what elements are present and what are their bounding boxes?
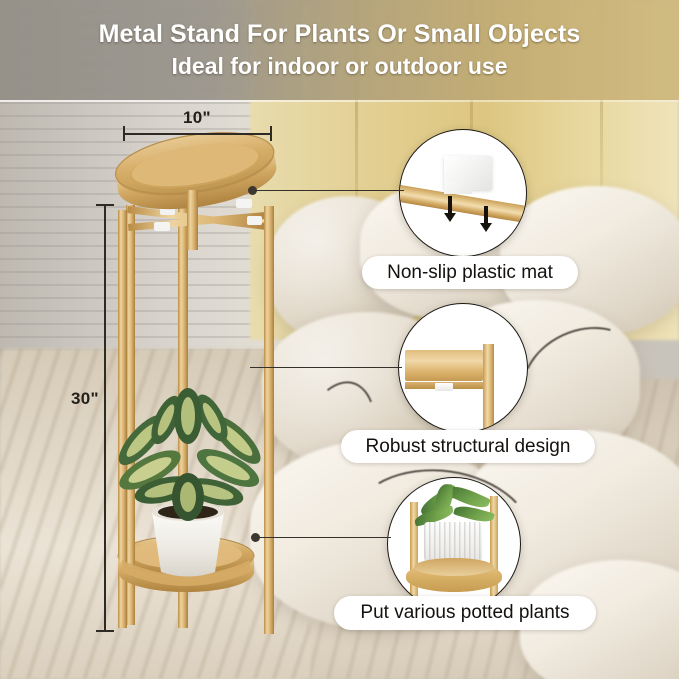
callout-3-anchor-dot [251,533,260,542]
down-arrow-icon [484,206,488,224]
dim-width-tick-left [123,126,125,141]
header-title-line2: Ideal for indoor or outdoor use [171,53,507,80]
callout-2-label: Robust structural design [366,436,571,458]
dim-width-line [123,133,272,135]
down-arrow-icon [448,196,452,214]
header-divider [0,100,679,102]
dim-height-line [104,205,106,631]
callout-1-leader-line [252,190,404,191]
callout-1-label-pill: Non-slip plastic mat [362,256,578,289]
callout-3-label: Put various potted plants [360,602,569,624]
callout-2-leader-line [250,367,402,368]
plastic-mat-icon [444,156,492,190]
product-infographic: 10" 30" Non-slip plastic mat Robust stru… [0,0,679,679]
callout-1-detail-circle [399,129,527,257]
callout-1-label: Non-slip plastic mat [387,262,553,284]
callout-2-detail-circle [398,303,528,433]
callout-3-detail-circle [387,477,521,611]
callout-2-label-pill: Robust structural design [341,430,595,463]
callout-1-anchor-dot [248,186,257,195]
tray-edge-detail [405,350,483,381]
dim-width-label: 10" [183,108,211,128]
header-banner: Metal Stand For Plants Or Small Objects … [0,0,679,100]
dim-width-tick-right [270,126,272,141]
callout-3-leader-line [255,537,391,538]
dim-height-label: 30" [71,389,99,409]
dim-height-tick-top [96,204,114,206]
tray-inner-detail [414,558,494,576]
header-title-line1: Metal Stand For Plants Or Small Objects [99,20,581,49]
callout-3-label-pill: Put various potted plants [334,596,596,630]
plastic-mat-icon [435,383,453,391]
dim-height-tick-bottom [96,630,114,632]
leg-detail [483,344,494,433]
